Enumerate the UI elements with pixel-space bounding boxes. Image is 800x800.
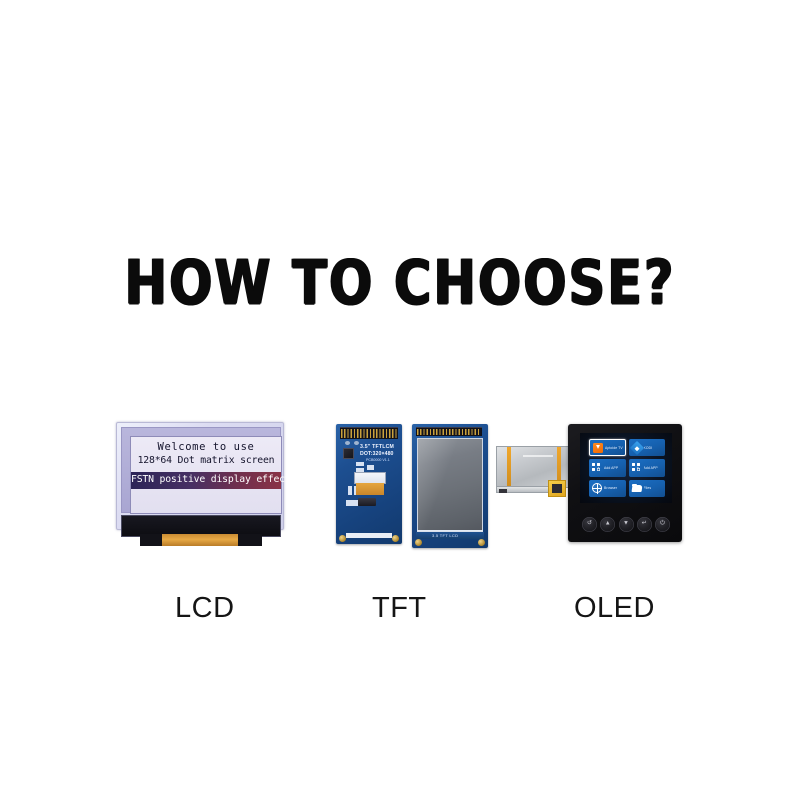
tft-component [345,441,350,445]
enter-icon: ↵ [642,521,647,527]
tft-board-back: 3.5 TFT LCD [412,424,488,548]
tft-mounting-hole [339,535,346,542]
tft-component [346,500,358,506]
lcd-fpc-tab-left [140,534,164,546]
product-image-oled: Aptoide TV KODI Add APP Add APP [496,424,682,554]
aptoide-icon [593,443,603,453]
add-app-icon [592,463,602,473]
oled-screen: Aptoide TV KODI Add APP Add APP [580,433,672,503]
tft-mounting-hole [478,539,485,546]
product-comparison-row: Welcome to use 128*64 Dot matrix screen … [0,410,800,570]
oled-tile-browser[interactable]: Browser [589,480,626,497]
oled-driver-chip [548,480,566,497]
lcd-outer-frame: Welcome to use 128*64 Dot matrix screen … [116,422,284,530]
caption-row: LCD TFT OLED [0,592,800,636]
tft-component [354,441,359,445]
lcd-screen: Welcome to use 128*64 Dot matrix screen … [130,436,282,514]
oled-tile-files[interactable]: Files [629,480,666,497]
oled-ribbon-tape [507,447,511,487]
caption-oled: OLED [574,592,655,625]
lcd-text-line-3-inverted: FSTN positive display effect [131,472,281,489]
tft-silkscreen-footer: 3.5 TFT LCD [432,533,458,538]
oled-tile-add-app-2[interactable]: Add APP [629,459,666,476]
tft-silkscreen-version: PCB0000 V1.1 [366,458,390,462]
back-icon: ↺ [587,521,592,527]
lcd-text-line-1: Welcome to use [131,440,281,454]
tft-board-front: 3.5" TFTLCM DOT:320×480 PCB0000 V1.1 [336,424,402,544]
tft-bottom-connector [346,533,392,538]
globe-icon [592,483,602,493]
oled-tile-label: Files [644,486,652,490]
lcd-bezel: Welcome to use 128*64 Dot matrix screen … [121,427,281,513]
oled-thin-cable [496,486,552,493]
power-icon: ⏻ [660,521,665,527]
tft-fpc-tail [356,483,384,495]
tft-mounting-hole [392,535,399,542]
tft-pin-row-back [417,429,481,435]
tft-pin-header-back [416,427,482,436]
oled-tile-label: Browser [604,486,617,490]
add-app-icon [632,463,642,473]
tft-component [348,486,352,495]
power-button[interactable]: ⏻ [655,517,670,532]
lcd-flex-cable [162,534,240,546]
oled-tile-label: Add APP [604,466,618,470]
tft-pin-row [341,429,397,438]
product-image-tft: 3.5" TFTLCM DOT:320×480 PCB0000 V1.1 [336,424,488,552]
tft-sd-card-slot [358,498,376,506]
up-button[interactable]: ▲ [600,517,615,532]
tft-pin-header [340,427,398,439]
oled-tile-add-app-1[interactable]: Add APP [589,459,626,476]
tft-glass-reflection [418,439,482,531]
oled-button-bar: ↺ ▲ ▼ ↵ ⏻ [582,515,670,533]
product-image-lcd: Welcome to use 128*64 Dot matrix screen … [116,422,284,552]
tft-display-panel [417,438,483,532]
oled-bezel: Aptoide TV KODI Add APP Add APP [568,424,682,542]
oled-ribbon-markings [523,455,553,477]
lcd-text-line-2: 128*64 Dot matrix screen [131,454,281,468]
enter-button[interactable]: ↵ [637,517,652,532]
back-button[interactable]: ↺ [582,517,597,532]
kodi-icon [632,443,642,453]
tft-component [367,465,374,470]
tft-component [356,462,364,466]
down-icon: ▼ [623,521,629,527]
up-icon: ▲ [605,521,611,527]
tft-driver-ic [343,448,354,459]
caption-lcd: LCD [175,592,235,625]
oled-tile-label: Aptoide TV [605,446,623,450]
oled-tile-aptoide-tv[interactable]: Aptoide TV [589,439,626,456]
tft-silkscreen-resolution: DOT:320×480 [360,451,394,457]
tft-mounting-hole [415,539,422,546]
oled-app-grid: Aptoide TV KODI Add APP Add APP [589,439,665,497]
folder-icon [632,483,642,493]
lcd-fpc-tab-right [238,534,262,546]
oled-tile-label: KODI [644,446,653,450]
page-title: HOW TO CHOOSE? [8,248,792,319]
down-button[interactable]: ▼ [619,517,634,532]
oled-tile-label: Add APP [644,466,658,470]
tft-silkscreen-title: 3.5" TFTLCM [360,444,394,450]
caption-tft: TFT [372,592,427,625]
oled-tile-kodi[interactable]: KODI [629,439,666,456]
